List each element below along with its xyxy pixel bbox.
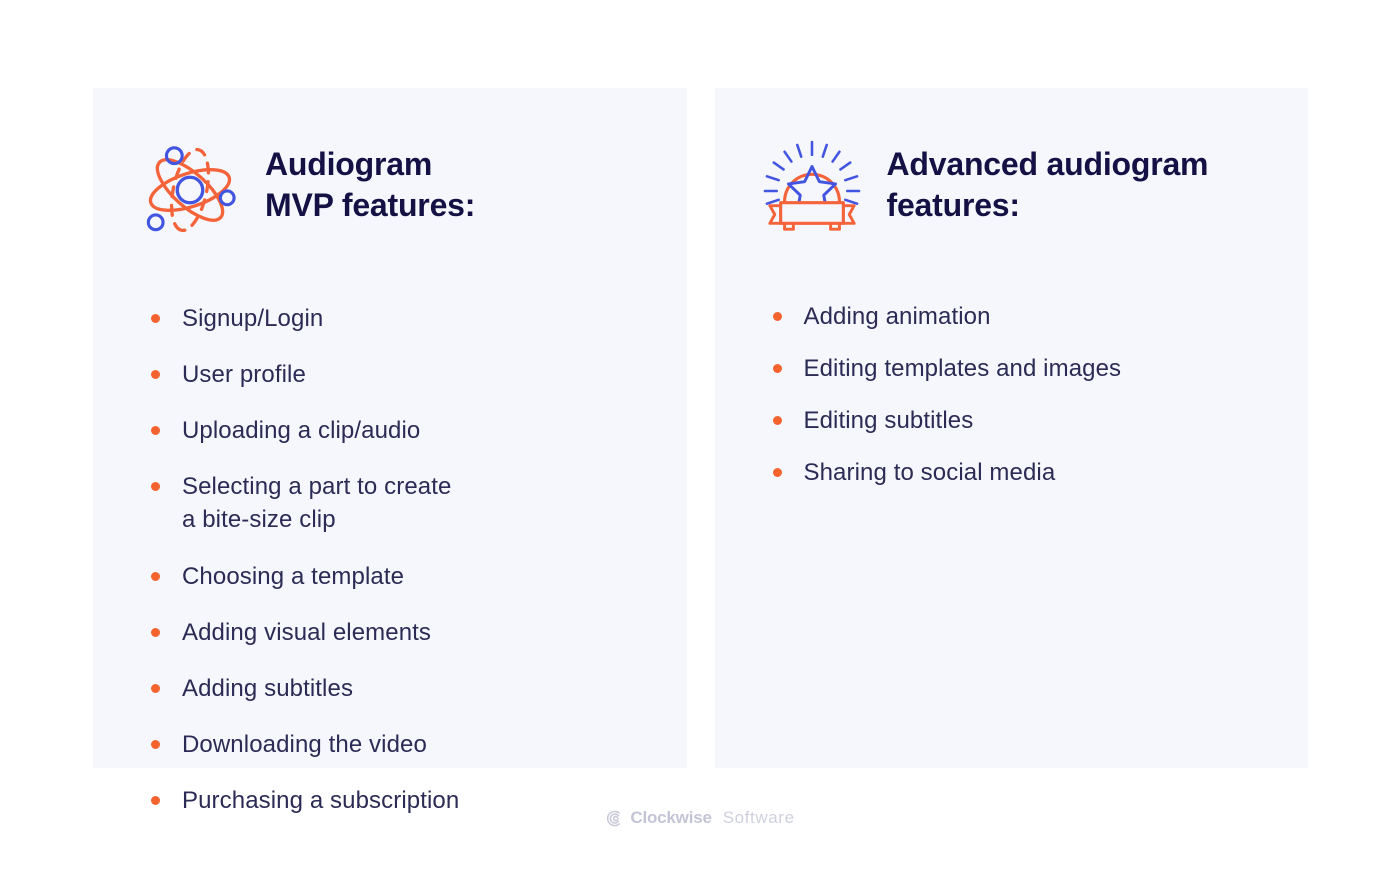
list-item: Adding subtitles bbox=[141, 672, 647, 705]
award-badge-icon bbox=[763, 140, 861, 240]
panel-header: Advanced audiogram features: bbox=[763, 140, 1269, 252]
list-item-label: Adding subtitles bbox=[182, 672, 353, 705]
list-item-label: Uploading a clip/audio bbox=[182, 414, 420, 447]
feature-list: Signup/Login User profile Uploading a cl… bbox=[141, 302, 647, 817]
bullet-icon bbox=[773, 416, 782, 425]
panel-audiogram-mvp-features: Audiogram MVP features: Signup/Login Use… bbox=[93, 88, 687, 768]
bullet-icon bbox=[151, 684, 160, 693]
bullet-icon bbox=[151, 482, 160, 491]
bullet-icon bbox=[773, 364, 782, 373]
list-item: Signup/Login bbox=[141, 302, 647, 335]
bullet-icon bbox=[151, 628, 160, 637]
feature-panels: Audiogram MVP features: Signup/Login Use… bbox=[93, 88, 1308, 768]
panel-title: Audiogram MVP features: bbox=[265, 140, 475, 226]
list-item-label: Signup/Login bbox=[182, 302, 323, 335]
feature-list: Adding animation Editing templates and i… bbox=[763, 300, 1269, 489]
list-item: Editing subtitles bbox=[763, 404, 1269, 437]
bullet-icon bbox=[773, 468, 782, 477]
list-item-label: Selecting a part to create a bite-size c… bbox=[182, 470, 451, 536]
list-item: Downloading the video bbox=[141, 728, 647, 761]
bullet-icon bbox=[151, 572, 160, 581]
list-item: Selecting a part to create a bite-size c… bbox=[141, 470, 647, 536]
list-item-label: Editing subtitles bbox=[804, 404, 974, 437]
panel-header: Audiogram MVP features: bbox=[141, 140, 647, 252]
list-item: Adding visual elements bbox=[141, 616, 647, 649]
clockwise-spiral-logo-icon bbox=[605, 810, 622, 827]
footer-brand-suffix: Software bbox=[723, 808, 795, 828]
slide-canvas: Audiogram MVP features: Signup/Login Use… bbox=[0, 0, 1400, 870]
list-item: User profile bbox=[141, 358, 647, 391]
list-item-label: Editing templates and images bbox=[804, 352, 1122, 385]
list-item-label: Adding animation bbox=[804, 300, 991, 333]
atom-icon bbox=[141, 140, 239, 240]
footer-branding: Clockwise Software bbox=[0, 808, 1400, 828]
bullet-icon bbox=[773, 312, 782, 321]
panel-title: Advanced audiogram features: bbox=[887, 140, 1209, 226]
bullet-icon bbox=[151, 426, 160, 435]
list-item: Editing templates and images bbox=[763, 352, 1269, 385]
bullet-icon bbox=[151, 740, 160, 749]
footer-brand-name: Clockwise bbox=[630, 808, 711, 828]
list-item: Choosing a template bbox=[141, 560, 647, 593]
list-item-label: Downloading the video bbox=[182, 728, 427, 761]
list-item-label: Adding visual elements bbox=[182, 616, 431, 649]
list-item-label: Sharing to social media bbox=[804, 456, 1056, 489]
bullet-icon bbox=[151, 370, 160, 379]
bullet-icon bbox=[151, 314, 160, 323]
list-item: Sharing to social media bbox=[763, 456, 1269, 489]
list-item: Uploading a clip/audio bbox=[141, 414, 647, 447]
list-item-label: User profile bbox=[182, 358, 306, 391]
panel-advanced-audiogram-features: Advanced audiogram features: Adding anim… bbox=[715, 88, 1309, 768]
list-item-label: Choosing a template bbox=[182, 560, 404, 593]
bullet-icon bbox=[151, 796, 160, 805]
list-item: Adding animation bbox=[763, 300, 1269, 333]
